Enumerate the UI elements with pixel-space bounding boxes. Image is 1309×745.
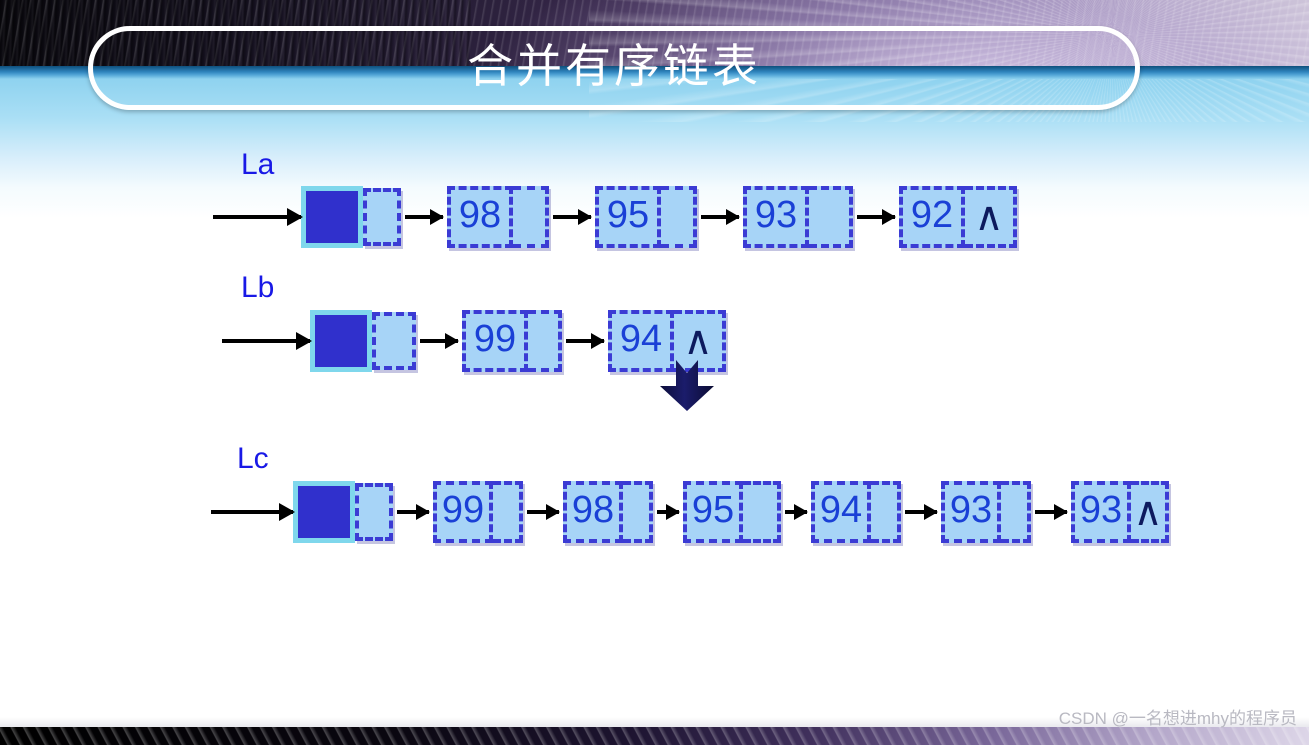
list-node-lc-4: 93	[941, 481, 1031, 543]
node-value-la-3: 92	[899, 186, 965, 248]
head-node-pointer-lb	[372, 312, 416, 370]
decorative-bottom-band	[0, 727, 1309, 745]
node-pointer-lc-0	[493, 481, 523, 543]
linked-list-lb: 99 94 ∧	[222, 310, 726, 372]
link-arrow-lc-4	[905, 510, 937, 514]
down-arrow-icon	[659, 360, 715, 412]
link-arrow-lc-2	[657, 510, 679, 514]
node-pointer-la-0	[513, 186, 549, 248]
bottom-band-streaks	[0, 727, 1309, 745]
page-title: 合并有序链表	[467, 44, 761, 93]
slide-canvas: 合并有序链表 La 98 95 93 92 ∧ Lb	[0, 0, 1309, 745]
head-node-la	[301, 186, 401, 248]
link-arrow-la-2	[701, 215, 739, 219]
head-pointer-arrow-lb	[222, 339, 310, 343]
list-label-lc: Lc	[237, 444, 269, 474]
head-pointer-arrow-la	[213, 215, 301, 219]
link-arrow-la-3	[857, 215, 895, 219]
list-node-lc-3: 94	[811, 481, 901, 543]
link-arrow-lb-1	[566, 339, 604, 343]
list-node-lc-2: 95	[683, 481, 781, 543]
list-label-la: La	[241, 150, 274, 180]
linked-list-la: 98 95 93 92 ∧	[213, 186, 1017, 248]
list-node-la-1: 95	[595, 186, 697, 248]
title-banner: 合并有序链表	[88, 26, 1140, 110]
head-node-pointer-la	[363, 188, 401, 246]
head-node-box-lb	[310, 310, 372, 372]
watermark-text: CSDN @一名想进mhy的程序员	[1059, 710, 1297, 727]
node-value-lc-2: 95	[683, 481, 743, 543]
link-arrow-la-0	[405, 215, 443, 219]
list-node-la-2: 93	[743, 186, 853, 248]
node-value-la-0: 98	[447, 186, 513, 248]
head-node-box-la	[301, 186, 363, 248]
node-pointer-la-2	[809, 186, 853, 248]
link-arrow-lc-1	[527, 510, 559, 514]
node-pointer-lc-2	[743, 481, 781, 543]
head-node-box-lc	[293, 481, 355, 543]
head-node-lb	[310, 310, 416, 372]
list-node-lc-0: 99	[433, 481, 523, 543]
node-value-la-2: 93	[743, 186, 809, 248]
node-value-la-1: 95	[595, 186, 661, 248]
list-label-lb: Lb	[241, 273, 274, 303]
node-value-lc-3: 94	[811, 481, 871, 543]
node-value-lb-0: 99	[462, 310, 528, 372]
node-pointer-la-1	[661, 186, 697, 248]
node-value-lc-5: 93	[1071, 481, 1131, 543]
link-arrow-lc-5	[1035, 510, 1067, 514]
node-value-lc-4: 93	[941, 481, 1001, 543]
node-pointer-lb-0	[528, 310, 562, 372]
list-node-la-0: 98	[447, 186, 549, 248]
node-value-lc-0: 99	[433, 481, 493, 543]
head-node-pointer-lc	[355, 483, 393, 541]
node-null-la: ∧	[965, 186, 1017, 248]
head-node-lc	[293, 481, 393, 543]
node-null-lc: ∧	[1131, 481, 1169, 543]
node-pointer-lc-1	[623, 481, 653, 543]
list-node-lb-0: 99	[462, 310, 562, 372]
node-value-lc-1: 98	[563, 481, 623, 543]
link-arrow-lc-0	[397, 510, 429, 514]
linked-list-lc: 99 98 95 94 93 93 ∧	[211, 481, 1169, 543]
list-node-lc-5: 93 ∧	[1071, 481, 1169, 543]
node-pointer-lc-3	[871, 481, 901, 543]
slide-background	[0, 78, 1309, 745]
link-arrow-lc-3	[785, 510, 807, 514]
link-arrow-lb-0	[420, 339, 458, 343]
node-pointer-lc-4	[1001, 481, 1031, 543]
link-arrow-la-1	[553, 215, 591, 219]
list-node-la-3: 92 ∧	[899, 186, 1017, 248]
head-pointer-arrow-lc	[211, 510, 293, 514]
list-node-lc-1: 98	[563, 481, 653, 543]
